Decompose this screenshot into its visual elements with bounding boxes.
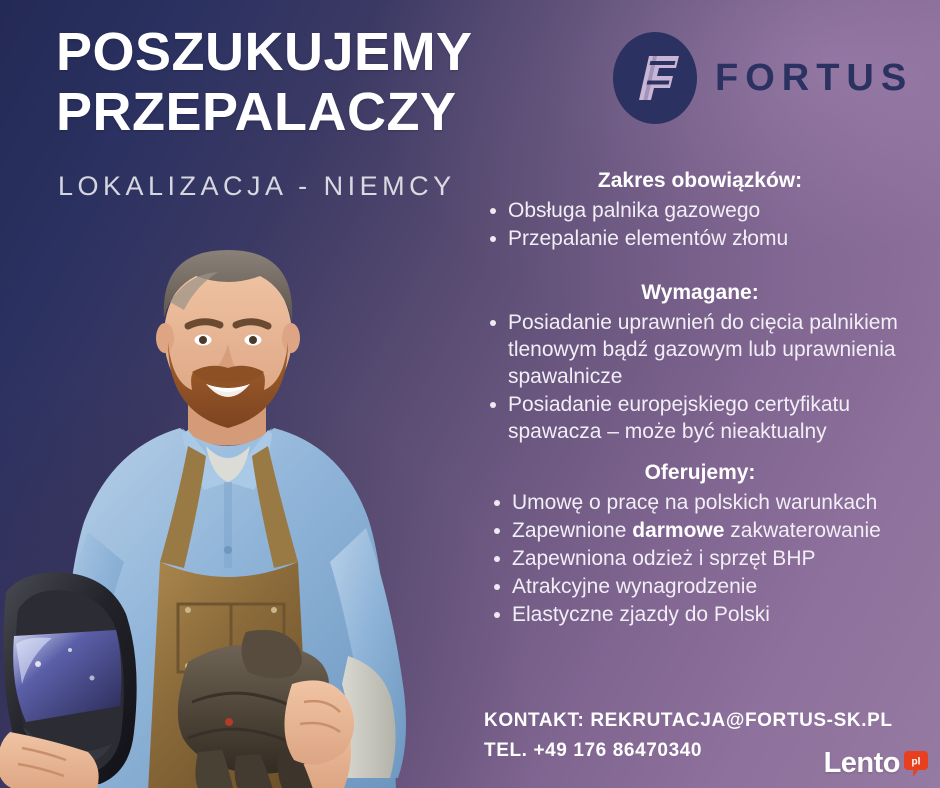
- duties-list: Obsługa palnika gazowego Przepalanie ele…: [466, 197, 934, 252]
- headline-line-2: PRZEPALACZY: [56, 82, 473, 142]
- page-title: POSZUKUJEMY PRZEPALACZY: [56, 22, 473, 142]
- section-duties: Zakres obowiązków: Obsługa palnika gazow…: [466, 168, 934, 252]
- svg-text:pl: pl: [912, 756, 921, 767]
- offer-text: Zapewniona odzież i sprzęt BHP: [512, 547, 816, 570]
- lento-pl-badge-icon: pl: [904, 751, 928, 777]
- offer-text: Umowę o pracę na polskich warunkach: [512, 491, 877, 514]
- lento-watermark: Lento pl: [824, 749, 928, 778]
- section-title-requirements: Wymagane:: [466, 280, 934, 306]
- list-item: Obsługa palnika gazowego: [466, 197, 934, 224]
- location-subtitle: LOKALIZACJA - NIEMCY: [58, 171, 456, 202]
- list-item: Posiadanie uprawnień do cięcia palnikiem…: [466, 309, 934, 390]
- fortus-logo: FORTUS: [609, 32, 913, 124]
- spacer: [466, 253, 934, 280]
- lento-wordmark: Lento: [824, 749, 900, 778]
- list-item: Atrakcyjne wynagrodzenie: [466, 573, 934, 600]
- offer-text-emphasis: darmowe: [632, 519, 724, 542]
- section-offers: Oferujemy: Umowę o pracę na polskich war…: [466, 460, 934, 628]
- list-item: Przepalanie elementów złomu: [466, 225, 934, 252]
- list-item: Elastyczne zjazdy do Polski: [466, 601, 934, 628]
- section-title-duties: Zakres obowiązków:: [466, 168, 934, 194]
- requirements-list: Posiadanie uprawnień do cięcia palnikiem…: [466, 309, 934, 445]
- list-item: Zapewnione darmowe zakwaterowanie: [466, 517, 934, 544]
- list-item: Zapewniona odzież i sprzęt BHP: [466, 545, 934, 572]
- offers-list: Umowę o pracę na polskich warunkach Zape…: [466, 489, 934, 628]
- section-requirements: Wymagane: Posiadanie uprawnień do cięcia…: [466, 280, 934, 445]
- offer-text-pre: Zapewnione: [512, 519, 632, 542]
- contact-email-line[interactable]: KONTAKT: REKRUTACJA@FORTUS-SK.PL: [484, 706, 893, 736]
- job-details: Zakres obowiązków: Obsługa palnika gazow…: [466, 168, 934, 629]
- offer-text: Atrakcyjne wynagrodzenie: [512, 575, 757, 598]
- fortus-wordmark: FORTUS: [715, 59, 913, 97]
- section-title-offers: Oferujemy:: [466, 460, 934, 486]
- list-item: Posiadanie europejskiego certyfikatu spa…: [466, 391, 934, 445]
- job-advert-poster: POSZUKUJEMY PRZEPALACZY LOKALIZACJA - NI…: [0, 0, 940, 788]
- fortus-mark-icon: [609, 32, 701, 124]
- headline-line-1: POSZUKUJEMY: [56, 22, 473, 82]
- offer-text: Elastyczne zjazdy do Polski: [512, 603, 770, 626]
- offer-text-post: zakwaterowanie: [724, 519, 880, 542]
- list-item: Umowę o pracę na polskich warunkach: [466, 489, 934, 516]
- spacer: [466, 446, 934, 460]
- welder-photo: [0, 232, 462, 788]
